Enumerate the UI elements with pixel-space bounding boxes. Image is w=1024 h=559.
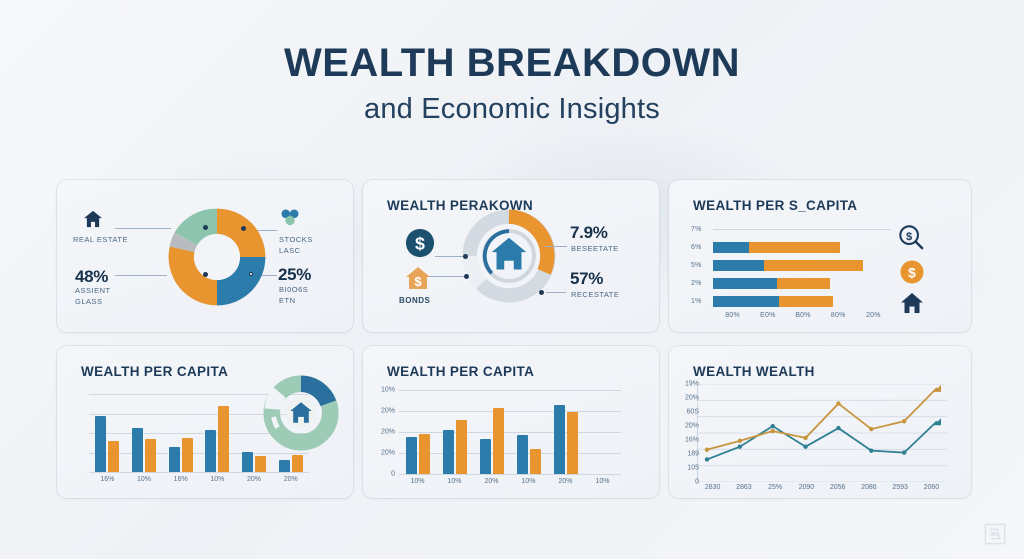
bar-xlabel: 10% [436, 478, 473, 485]
bar-xlabel: 10% [584, 478, 621, 485]
bar-ylabel: 20% [381, 450, 395, 457]
bar-group [126, 428, 163, 472]
hbar-segment-orange [777, 278, 830, 289]
line-marker [771, 429, 775, 433]
gauge-pct-top-sub: BESEETATE [571, 244, 619, 254]
donut-sub-right-line2: ETN [279, 296, 296, 306]
line-endpoint-arrow [934, 385, 941, 392]
bar-xlabel: 10% [399, 478, 436, 485]
line-marker [738, 445, 742, 449]
line-chart-xaxis: 2830286325%20902056208625932060 [697, 484, 947, 491]
bar-group [547, 405, 584, 474]
vbar-chart-mid[interactable] [399, 390, 621, 474]
card-wealth-perakown-gauge[interactable]: WEALTH PERAKOWN $ $ BONDS [363, 180, 659, 332]
card-title-vbars-mid: WEALTH PER CAPITA [387, 364, 534, 379]
bar-orange [493, 408, 504, 474]
card-asset-allocation-donut[interactable]: REAL ESTATE 48% ASSIENT GLASS STOCKS LAS… [57, 180, 353, 332]
hbar-track [713, 278, 891, 289]
line-xlabel: 2593 [885, 484, 916, 491]
donut-sub-left-line2: GLASS [75, 297, 103, 307]
hbar-segment-orange [764, 260, 863, 271]
bar-group [236, 452, 273, 472]
bar-orange [530, 449, 541, 474]
gauge-label-bonds: BONDS [399, 296, 430, 307]
bar-xlabel: 16% [89, 476, 126, 483]
line-xlabel: 2863 [728, 484, 759, 491]
bar-group [89, 416, 126, 472]
bar-xlabel: 20% [547, 478, 584, 485]
bar-xlabel: 20% [473, 478, 510, 485]
line-xlabel: 2086 [853, 484, 884, 491]
line-marker [771, 424, 775, 428]
hbar-segment-blue [713, 296, 779, 307]
bar-orange [419, 434, 430, 474]
bar-group [510, 435, 547, 474]
leader-line-bonds [429, 276, 465, 277]
hbar-xaxis: 80%E0%B0%80%20% [715, 312, 891, 319]
line-marker [836, 401, 840, 405]
svg-text:$: $ [414, 274, 422, 289]
hbar-ylabel: 1% [691, 298, 713, 305]
hbar-xlabel: 80% [715, 312, 750, 319]
vbar-mid-xaxis: 10%10%20%10%20%10% [399, 478, 621, 485]
hbar-row: 1% [691, 294, 891, 309]
gauge-dot-pct-bottom [539, 290, 544, 295]
dashboard-grid: REAL ESTATE 48% ASSIENT GLASS STOCKS LAS… [57, 180, 967, 498]
leader-line-pct-top [545, 246, 567, 247]
line-marker [705, 447, 709, 451]
leader-line-dollar [435, 256, 465, 257]
donut-chart[interactable] [162, 202, 272, 312]
hbar-chart[interactable]: 7%6%5%2%1%80%E0%B0%80%20% [691, 222, 891, 314]
bar-group [436, 420, 473, 474]
vbar-left-xaxis: 16%10%16%10%20%20% [89, 476, 309, 483]
line-marker [869, 427, 873, 431]
hbar-row: 6% [691, 240, 891, 255]
line-chart[interactable] [697, 384, 947, 482]
line-xlabel: 2060 [916, 484, 947, 491]
line-marker [803, 436, 807, 440]
dollar-circle-icon: $ [405, 228, 435, 258]
bar-ylabel: 20% [381, 408, 395, 415]
bar-ylabel: 10% [381, 387, 395, 394]
donut-house-icon [262, 374, 340, 452]
bar-blue [169, 447, 180, 472]
line-xlabel: 2830 [697, 484, 728, 491]
bar-xlabel: 20% [236, 476, 273, 483]
line-marker [902, 419, 906, 423]
gauge-pct-bottom-sub: RECESTATE [571, 290, 619, 300]
card-wealth-wealth-lines[interactable]: WEALTH WEALTH 19%20%60S20%16%1891050 283… [669, 346, 971, 498]
gauge-pct-bottom: 57% [570, 268, 603, 291]
card-title-wealth-per-capita-hbars: WEALTH PER S_CAPITA [693, 198, 857, 213]
bar-orange [145, 439, 156, 472]
leader-line-asset-class [115, 275, 167, 276]
line-marker [705, 457, 709, 461]
cluster-dots-icon [279, 208, 301, 228]
donut-sub-left-line1: ASSIENT [75, 286, 111, 296]
svg-text:$: $ [906, 231, 913, 243]
hbar-row: 7% [691, 222, 891, 237]
bar-blue [242, 452, 253, 472]
bar-blue [95, 416, 106, 472]
bar-blue [406, 437, 417, 474]
hbar-xlabel: 80% [821, 312, 856, 319]
hbar-xlabel: B0% [785, 312, 820, 319]
card-title-wealth-wealth: WEALTH WEALTH [693, 364, 815, 379]
donut-callout-dot-bonds [249, 272, 253, 276]
hbar-ylabel: 2% [691, 280, 713, 287]
gridline [89, 472, 309, 473]
bar-blue [205, 430, 216, 472]
card-title-vbars-left: WEALTH PER CAPITA [81, 364, 228, 379]
hbar-ylabel: 6% [691, 244, 713, 251]
line-xlabel: 2056 [822, 484, 853, 491]
bar-blue [480, 439, 491, 474]
donut-label-stocks-line2: LASC [279, 246, 301, 256]
house-icon [83, 210, 103, 228]
bar-ylabel: 20% [381, 429, 395, 436]
card-wealth-per-capita-vbars-left[interactable]: WEALTH PER CAPITA 16%10%16%10%20%20% [57, 346, 353, 498]
bar-blue [554, 405, 565, 474]
card-wealth-per-capita-hbars[interactable]: WEALTH PER S_CAPITA 7%6%5%2%1%80%E0%B0%8… [669, 180, 971, 332]
gauge-pct-top: 7.9% [570, 222, 608, 245]
hbar-row: 2% [691, 276, 891, 291]
line-marker [803, 445, 807, 449]
bar-blue [443, 430, 454, 474]
poster-root: WEALTH BREAKDOWN and Economic Insights R… [0, 0, 1024, 559]
vbar-mid-yaxis: 10%20%20%20%0 [369, 390, 395, 474]
brand-watermark [984, 523, 1006, 545]
donut-label-stocks-line1: STOCKS [279, 235, 313, 245]
bar-blue [279, 460, 290, 472]
bar-group [272, 455, 309, 472]
bar-group-container [399, 390, 621, 474]
coin-dollar-icon: $ [900, 260, 924, 284]
bar-orange [218, 406, 229, 472]
bar-blue [517, 435, 528, 474]
line-xlabel: 2090 [791, 484, 822, 491]
bar-orange [567, 412, 578, 474]
page-title: WEALTH BREAKDOWN [0, 42, 1024, 84]
hbar-ylabel: 7% [691, 226, 713, 233]
line-marker [836, 426, 840, 430]
hbar-segment-blue [713, 278, 777, 289]
gauge-dot-dollar [463, 254, 468, 259]
hbar-ylabel: 5% [691, 262, 713, 269]
house-icon [900, 292, 924, 314]
bar-blue [132, 428, 143, 472]
bar-orange [255, 456, 266, 472]
bar-group [473, 408, 510, 474]
donut-pct-right: 25% [278, 264, 311, 287]
donut-callout-dot-real-estate [203, 225, 208, 230]
house-dollar-icon: $ [405, 266, 431, 290]
hbar-track [713, 242, 891, 253]
hbar-xlabel: E0% [750, 312, 785, 319]
hbar-segment-orange [779, 296, 832, 307]
hbar-segment-blue [713, 242, 749, 253]
card-wealth-per-capita-vbars-mid[interactable]: WEALTH PER CAPITA 10%20%20%20%0 10%10%20… [363, 346, 659, 498]
hbar-row: 5% [691, 258, 891, 273]
bar-ylabel: 0 [391, 471, 395, 478]
bar-orange [108, 441, 119, 472]
page-subtitle: and Economic Insights [0, 93, 1024, 126]
bar-orange [456, 420, 467, 474]
svg-text:$: $ [415, 234, 425, 254]
hbar-track [713, 260, 891, 271]
donut-callout-dot-stocks [241, 226, 246, 231]
search-dollar-icon: $ [898, 224, 924, 250]
hbar-segment-orange [749, 242, 841, 253]
bar-xlabel: 16% [162, 476, 199, 483]
bar-group [399, 434, 436, 474]
line-chart-yaxis: 19%20%60S20%16%1891050 [673, 384, 699, 482]
gridline [399, 474, 621, 475]
line-marker [902, 450, 906, 454]
bar-orange [182, 438, 193, 472]
hbar-xlabel: 20% [856, 312, 891, 319]
donut-sub-right-line1: BI0O6S [279, 285, 308, 295]
hbar-track [713, 296, 891, 307]
bar-xlabel: 10% [126, 476, 163, 483]
hbar-segment-blue [713, 260, 764, 271]
line-marker [869, 448, 873, 452]
bar-orange [292, 455, 303, 472]
bar-xlabel: 10% [510, 478, 547, 485]
leader-line-pct-bottom [546, 292, 566, 293]
line-xlabel: 25% [760, 484, 791, 491]
bar-group [162, 438, 199, 472]
bar-xlabel: 20% [272, 476, 309, 483]
poster-header: WEALTH BREAKDOWN and Economic Insights [0, 0, 1024, 126]
gauge-dot-bonds [464, 274, 469, 279]
donut-label-real-estate: REAL ESTATE [73, 235, 128, 245]
line-marker [738, 439, 742, 443]
bar-xlabel: 10% [199, 476, 236, 483]
bar-group [199, 406, 236, 472]
donut-callout-dot-asset-class [203, 272, 208, 277]
hbar-track [713, 229, 891, 230]
svg-text:$: $ [908, 265, 916, 281]
